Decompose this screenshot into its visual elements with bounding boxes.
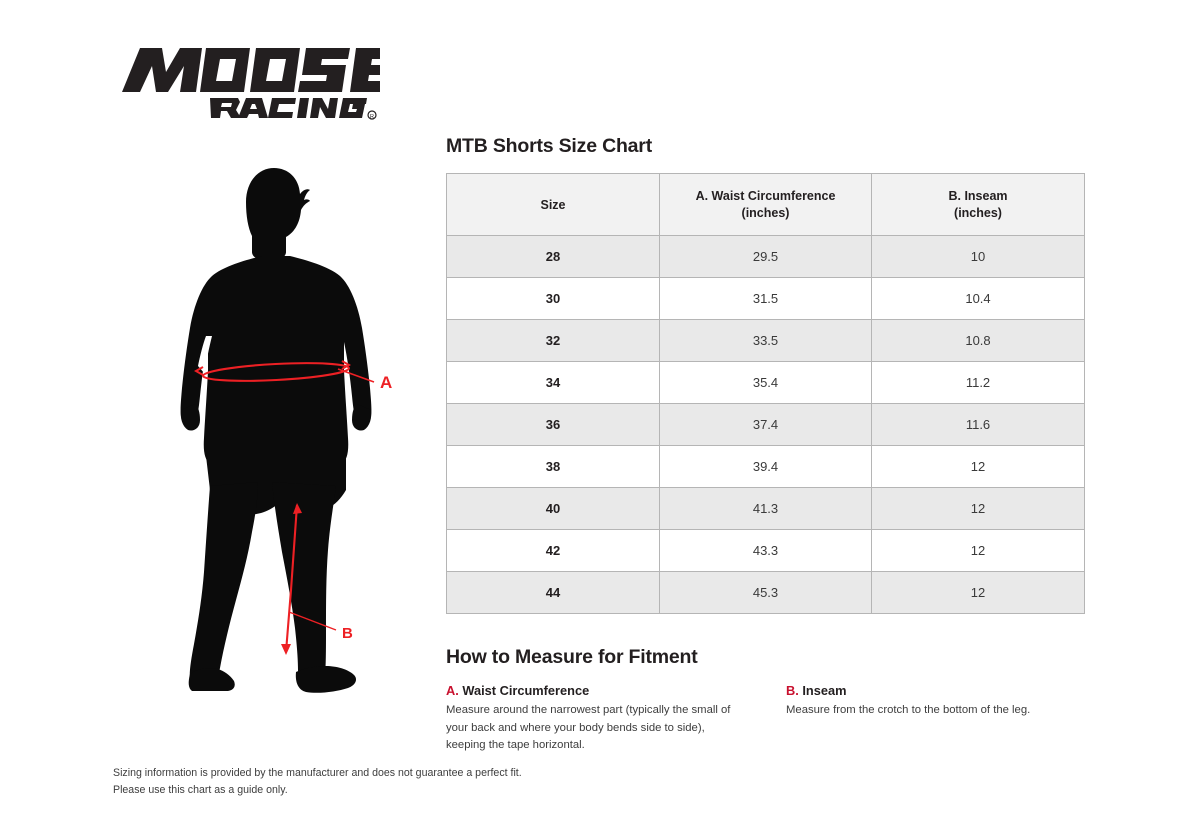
cell-inseam: 10.8	[872, 320, 1085, 362]
cell-inseam: 12	[872, 488, 1085, 530]
cell-waist: 43.3	[660, 530, 872, 572]
cell-waist: 33.5	[660, 320, 872, 362]
howto-inseam-heading: B. Inseam	[786, 683, 1084, 698]
cell-waist: 29.5	[660, 236, 872, 278]
table-row: 4041.312	[447, 488, 1085, 530]
column-header-inseam-line2: (inches)	[954, 206, 1002, 220]
table-row: 3637.411.6	[447, 404, 1085, 446]
cell-inseam: 12	[872, 530, 1085, 572]
cell-size: 30	[447, 278, 660, 320]
cell-size: 34	[447, 362, 660, 404]
cell-size: 32	[447, 320, 660, 362]
cell-inseam: 12	[872, 446, 1085, 488]
howto-inseam-title: Inseam	[802, 683, 846, 698]
disclaimer: Sizing information is provided by the ma…	[113, 765, 522, 798]
cell-size: 28	[447, 236, 660, 278]
column-header-inseam-line1: B. Inseam	[948, 189, 1007, 203]
cell-size: 44	[447, 572, 660, 614]
how-to-measure-title: How to Measure for Fitment	[446, 646, 1084, 669]
table-row: 3031.510.4	[447, 278, 1085, 320]
cell-inseam: 11.6	[872, 404, 1085, 446]
cell-size: 40	[447, 488, 660, 530]
svg-text:R: R	[370, 114, 374, 120]
howto-waist-title: Waist Circumference	[462, 683, 589, 698]
column-header-waist-line2: (inches)	[742, 206, 790, 220]
table-header-row: Size A. Waist Circumference (inches) B. …	[447, 174, 1085, 236]
cell-waist: 45.3	[660, 572, 872, 614]
column-header-size-line1: Size	[540, 198, 565, 212]
table-row: 2829.510	[447, 236, 1085, 278]
cell-size: 42	[447, 530, 660, 572]
cell-waist: 35.4	[660, 362, 872, 404]
body-silhouette	[181, 168, 372, 693]
table-row: 4243.312	[447, 530, 1085, 572]
cell-waist: 39.4	[660, 446, 872, 488]
page-title: MTB Shorts Size Chart	[446, 136, 1084, 157]
moose-racing-logo: R	[110, 32, 380, 120]
column-header-waist: A. Waist Circumference (inches)	[660, 174, 872, 236]
howto-inseam-marker: B.	[786, 683, 799, 698]
waist-label: A	[380, 373, 392, 392]
column-header-waist-line1: A. Waist Circumference	[696, 189, 836, 203]
howto-inseam-body: Measure from the crotch to the bottom of…	[786, 702, 1084, 719]
howto-waist-body: Measure around the narrowest part (typic…	[446, 702, 746, 753]
howto-item-waist: A. Waist Circumference Measure around th…	[446, 683, 786, 753]
size-chart-body: 2829.5103031.510.43233.510.83435.411.236…	[447, 236, 1085, 614]
table-row: 3233.510.8	[447, 320, 1085, 362]
cell-inseam: 10	[872, 236, 1085, 278]
table-row: 3435.411.2	[447, 362, 1085, 404]
disclaimer-line-1: Sizing information is provided by the ma…	[113, 765, 522, 782]
column-header-size: Size	[447, 174, 660, 236]
cell-inseam: 12	[872, 572, 1085, 614]
disclaimer-line-2: Please use this chart as a guide only.	[113, 782, 522, 799]
table-row: 3839.412	[447, 446, 1085, 488]
inseam-label: B	[342, 625, 353, 642]
table-row: 4445.312	[447, 572, 1085, 614]
size-chart-table: Size A. Waist Circumference (inches) B. …	[446, 173, 1085, 614]
measurement-figure: A B	[150, 160, 400, 705]
cell-inseam: 10.4	[872, 278, 1085, 320]
howto-waist-heading: A. Waist Circumference	[446, 683, 786, 698]
howto-item-inseam: B. Inseam Measure from the crotch to the…	[786, 683, 1084, 753]
cell-inseam: 11.2	[872, 362, 1085, 404]
cell-waist: 31.5	[660, 278, 872, 320]
cell-waist: 37.4	[660, 404, 872, 446]
howto-waist-marker: A.	[446, 683, 459, 698]
cell-size: 38	[447, 446, 660, 488]
column-header-inseam: B. Inseam (inches)	[872, 174, 1085, 236]
cell-waist: 41.3	[660, 488, 872, 530]
cell-size: 36	[447, 404, 660, 446]
